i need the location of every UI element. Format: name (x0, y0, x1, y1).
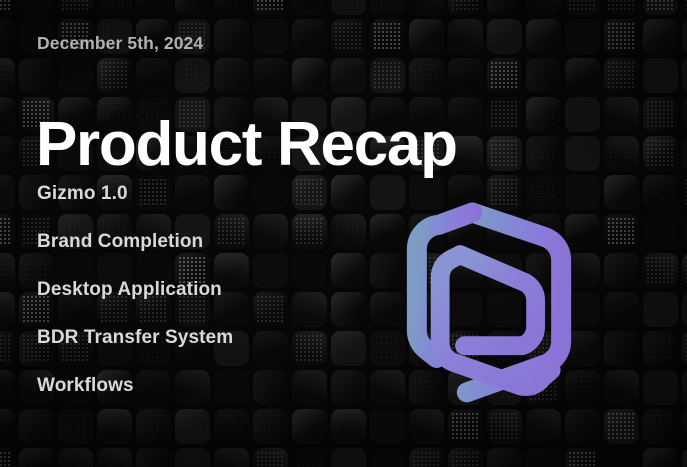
product-recap-slide: December 5th, 2024 Product Recap Gizmo 1… (0, 0, 687, 467)
list-item: Gizmo 1.0 (37, 184, 233, 232)
list-item: Workflows (37, 376, 233, 424)
logo-svg (378, 197, 600, 419)
list-item: BDR Transfer System (37, 328, 233, 376)
slide-content: December 5th, 2024 Product Recap Gizmo 1… (0, 0, 687, 467)
slide-date: December 5th, 2024 (37, 33, 203, 54)
list-item: Desktop Application (37, 280, 233, 328)
page-title: Product Recap (36, 114, 457, 176)
logo-inner-stroke-right (460, 255, 535, 346)
list-item: Brand Completion (37, 232, 233, 280)
company-logo-mark (378, 197, 600, 419)
topic-list: Gizmo 1.0 Brand Completion Desktop Appli… (37, 184, 233, 424)
